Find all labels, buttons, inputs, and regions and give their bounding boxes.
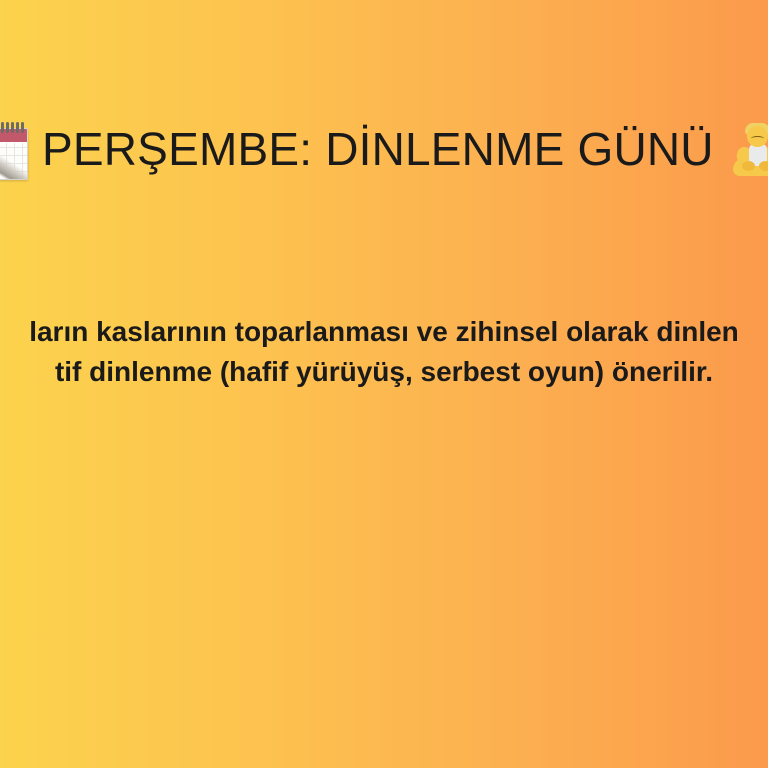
- slide-canvas: PERŞEMBE: DİNLENME GÜNÜ ların kaslarının…: [0, 0, 768, 768]
- slide-body-text: ların kaslarının toparlanması ve zihinse…: [0, 312, 768, 392]
- body-line: ların kaslarının toparlanması ve zihinse…: [0, 312, 768, 352]
- page-title: PERŞEMBE: DİNLENME GÜNÜ: [42, 125, 714, 175]
- slide-heading-row: PERŞEMBE: DİNLENME GÜNÜ: [0, 122, 768, 178]
- person-in-lotus-position-icon: [730, 122, 768, 178]
- spiral-calendar-icon: [0, 122, 26, 178]
- body-line: tif dinlenme (hafif yürüyüş, serbest oyu…: [0, 352, 768, 392]
